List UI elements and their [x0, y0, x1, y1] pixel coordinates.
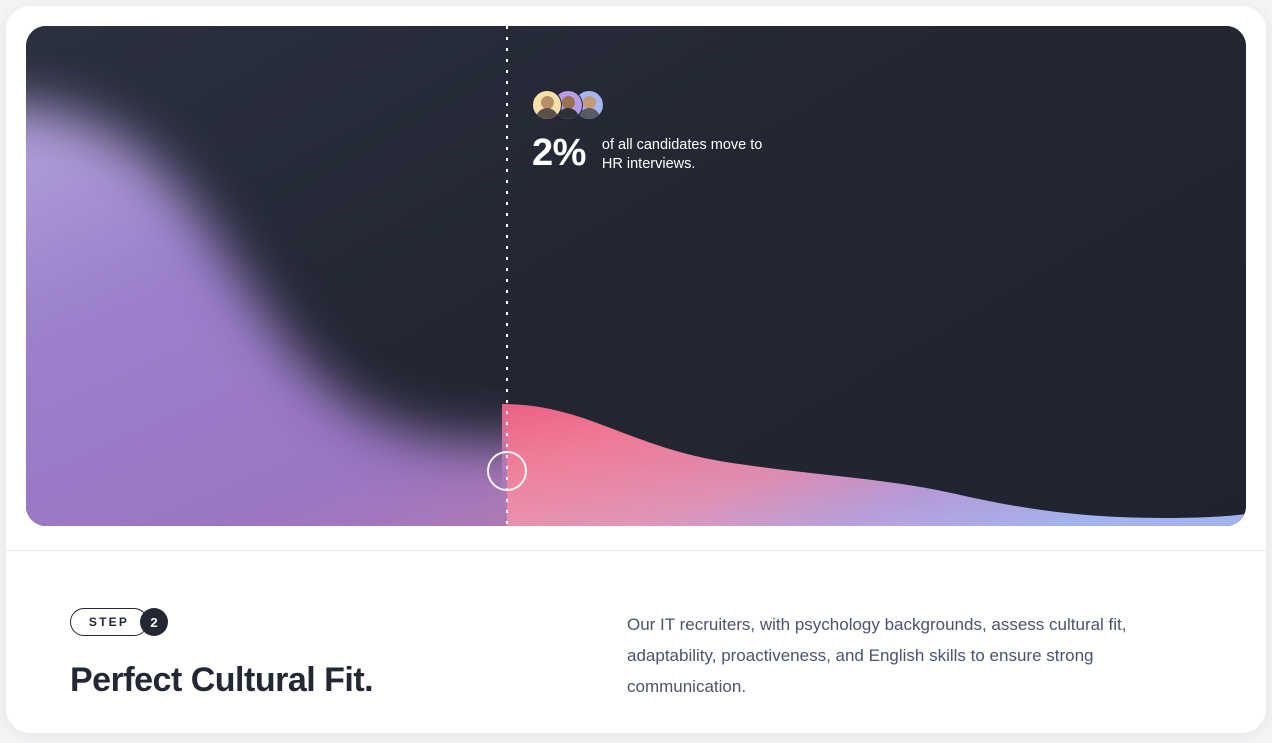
comparison-panel[interactable]: 2% of all candidates move to HR intervie… [26, 26, 1246, 526]
stat-description-line-2: HR interviews. [602, 155, 762, 174]
step-label: STEP [70, 608, 148, 636]
stat-row: 2% of all candidates move to HR intervie… [532, 132, 762, 174]
step-description: Our IT recruiters, with psychology backg… [627, 609, 1202, 702]
before-side [26, 26, 507, 526]
stat-overlay: 2% of all candidates move to HR intervie… [532, 90, 762, 174]
stat-description-line-1: of all candidates move to [602, 137, 762, 153]
avatar-body-icon [536, 108, 558, 120]
avatar-group [532, 90, 762, 120]
page-root: 2% of all candidates move to HR intervie… [0, 0, 1272, 743]
step-badge: STEP 2 [70, 608, 168, 636]
step-content: STEP 2 Perfect Cultural Fit. Our IT recr… [6, 551, 1266, 733]
stat-value: 2% [532, 132, 586, 174]
step-number-badge: 2 [140, 608, 168, 636]
stat-description: of all candidates move to HR interviews. [602, 132, 762, 174]
wave-before [26, 26, 507, 526]
step-card: 2% of all candidates move to HR intervie… [6, 6, 1266, 733]
avatar [532, 90, 562, 120]
comparison-slider-handle[interactable] [487, 451, 527, 491]
step-title: Perfect Cultural Fit. [70, 658, 373, 702]
